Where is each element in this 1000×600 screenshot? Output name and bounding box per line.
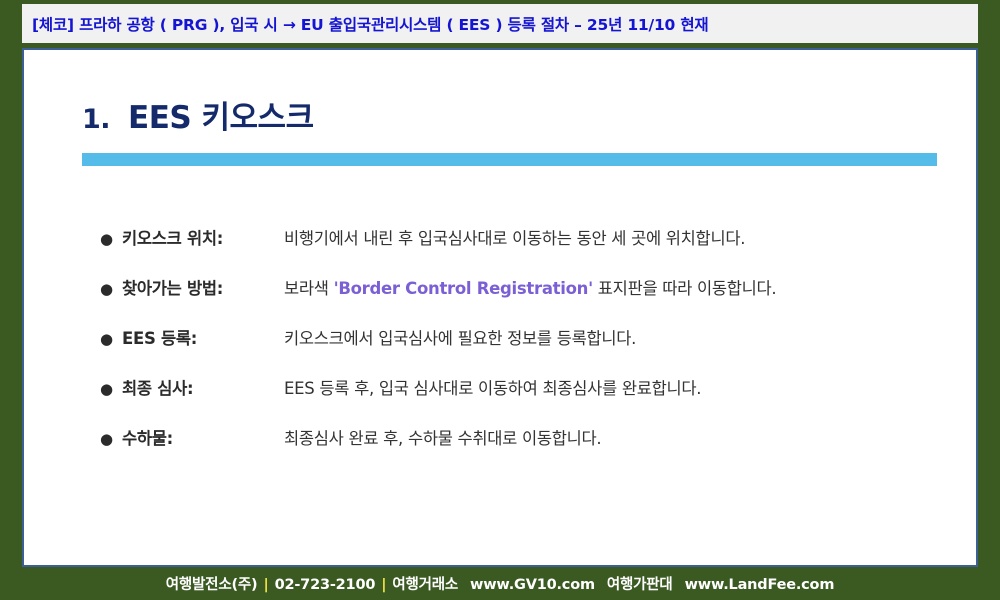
header-title: [체코] 프라하 공항 ( PRG ), 입국 시 → EU 출입국관리시스템 … bbox=[32, 13, 708, 35]
footer-brand-landfee: 여행가판대 bbox=[607, 577, 673, 593]
desc-prefix: 최종심사 완료 후, 수하물 수취대로 이동합니다. bbox=[284, 429, 601, 448]
accent-rule-divider bbox=[82, 153, 937, 166]
footer-separator: | bbox=[381, 577, 386, 593]
list-item: ● 키오스크 위치: 비행기에서 내린 후 입국심사대로 이동하는 동안 세 곳… bbox=[100, 225, 960, 275]
list-item: ● 수하물: 최종심사 완료 후, 수하물 수취대로 이동합니다. bbox=[100, 425, 960, 475]
footer-separator: | bbox=[263, 577, 268, 593]
footer-site-landfee[interactable]: www.LandFee.com bbox=[685, 577, 835, 593]
footer-company: 여행발전소(주) bbox=[166, 577, 258, 593]
bullet-dot-icon: ● bbox=[100, 382, 122, 397]
desc-prefix: 비행기에서 내린 후 입국심사대로 이동하는 동안 세 곳에 위치합니다. bbox=[284, 229, 745, 248]
list-item-description: EES 등록 후, 입국 심사대로 이동하여 최종심사를 완료합니다. bbox=[284, 375, 701, 399]
desc-prefix: 보라색 bbox=[284, 279, 334, 298]
bullet-dot-icon: ● bbox=[100, 332, 122, 347]
footer-site-gv10[interactable]: www.GV10.com bbox=[470, 577, 595, 593]
section-number: 1. bbox=[82, 104, 110, 135]
list-item-label: 키오스크 위치: bbox=[122, 225, 284, 249]
list-item-label: 수하물: bbox=[122, 425, 284, 449]
footer-brand-gv10: 여행거래소 bbox=[392, 577, 458, 593]
section-title: 1. EES 키오스크 bbox=[82, 92, 314, 137]
list-item: ● 찾아가는 방법: 보라색 'Border Control Registrat… bbox=[100, 275, 960, 325]
list-item-description: 키오스크에서 입국심사에 필요한 정보를 등록합니다. bbox=[284, 325, 636, 349]
bullet-dot-icon: ● bbox=[100, 282, 122, 297]
list-item: ● EES 등록: 키오스크에서 입국심사에 필요한 정보를 등록합니다. bbox=[100, 325, 960, 375]
bullet-list: ● 키오스크 위치: 비행기에서 내린 후 입국심사대로 이동하는 동안 세 곳… bbox=[100, 225, 960, 475]
slide-content-area: 1. EES 키오스크 ● 키오스크 위치: 비행기에서 내린 후 입국심사대로… bbox=[22, 48, 978, 567]
footer-bar: 여행발전소(주)|02-723-2100|여행거래소www.GV10.com여행… bbox=[0, 567, 1000, 600]
list-item-label: 최종 심사: bbox=[122, 375, 284, 399]
footer-phone: 02-723-2100 bbox=[275, 577, 376, 593]
bullet-dot-icon: ● bbox=[100, 232, 122, 247]
list-item-description: 최종심사 완료 후, 수하물 수취대로 이동합니다. bbox=[284, 425, 601, 449]
list-item-description: 보라색 'Border Control Registration' 표지판을 따… bbox=[284, 275, 776, 299]
list-item-label: EES 등록: bbox=[122, 325, 284, 349]
desc-suffix: 표지판을 따라 이동합니다. bbox=[593, 279, 776, 298]
bullet-dot-icon: ● bbox=[100, 432, 122, 447]
list-item: ● 최종 심사: EES 등록 후, 입국 심사대로 이동하여 최종심사를 완료… bbox=[100, 375, 960, 425]
list-item-label: 찾아가는 방법: bbox=[122, 275, 284, 299]
page-title: EES 키오스크 bbox=[128, 92, 314, 137]
footer-text: 여행발전소(주)|02-723-2100|여행거래소www.GV10.com여행… bbox=[166, 573, 834, 594]
list-item-description: 비행기에서 내린 후 입국심사대로 이동하는 동안 세 곳에 위치합니다. bbox=[284, 225, 745, 249]
desc-prefix: 키오스크에서 입국심사에 필요한 정보를 등록합니다. bbox=[284, 329, 636, 348]
desc-highlight: 'Border Control Registration' bbox=[334, 279, 593, 298]
header-strip: [체코] 프라하 공항 ( PRG ), 입국 시 → EU 출입국관리시스템 … bbox=[22, 4, 978, 43]
desc-prefix: EES 등록 후, 입국 심사대로 이동하여 최종심사를 완료합니다. bbox=[284, 379, 701, 398]
